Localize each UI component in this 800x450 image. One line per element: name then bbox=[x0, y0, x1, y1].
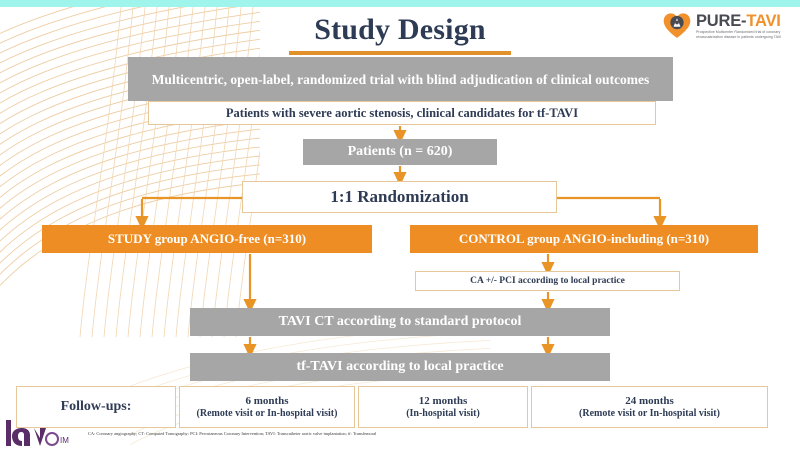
box-total-patients: Patients (n = 620) bbox=[303, 139, 497, 165]
box-randomization: 1:1 Randomization bbox=[242, 181, 557, 213]
box-tf-tavi: tf-TAVI according to local practice bbox=[190, 353, 610, 381]
box-patient-population: Patients with severe aortic stenosis, cl… bbox=[148, 101, 656, 125]
title-underline bbox=[289, 51, 511, 55]
abbreviations-footnote: CA: Coronary angiography; CT: Computed T… bbox=[88, 431, 728, 437]
brand-name: PURE-TAVI bbox=[696, 13, 792, 30]
followup-sub-6: (Remote visit or In-hospital visit) bbox=[197, 408, 338, 420]
followup-cell-24-months: 24 months (Remote visit or In-hospital v… bbox=[531, 386, 768, 428]
followups-row: Follow-ups: 6 months (Remote visit or In… bbox=[16, 386, 768, 428]
svg-text:IM: IM bbox=[60, 436, 69, 445]
followup-cell-6-months: 6 months (Remote visit or In-hospital vi… bbox=[179, 386, 355, 428]
followup-title-6: 6 months bbox=[245, 395, 288, 408]
followup-cell-12-months: 12 months (In-hospital visit) bbox=[358, 386, 528, 428]
heart-valve-logo-icon bbox=[663, 12, 691, 40]
box-ca-pci: CA +/- PCI according to local practice bbox=[415, 271, 680, 291]
followup-sub-12: (In-hospital visit) bbox=[406, 408, 480, 420]
followup-title-24: 24 months bbox=[625, 395, 674, 408]
brand-name-tavi: TAVI bbox=[746, 12, 780, 30]
brand-text-block: PURE-TAVI Prospective Multicenter Random… bbox=[696, 13, 792, 39]
followups-label: Follow-ups: bbox=[61, 399, 132, 415]
box-control-group: CONTROL group ANGIO-including (n=310) bbox=[410, 225, 758, 253]
slide-canvas: Study Design PURE-TAVI Prospective Multi… bbox=[0, 0, 800, 450]
box-tavi-ct: TAVI CT according to standard protocol bbox=[190, 308, 610, 336]
brand-logo: PURE-TAVI Prospective Multicenter Random… bbox=[663, 12, 792, 40]
box-study-group: STUDY group ANGIO-free (n=310) bbox=[42, 225, 372, 253]
box-trial-description: Multicentric, open-label, randomized tri… bbox=[128, 57, 673, 101]
brand-subtitle: Prospective Multicenter Randomized trial… bbox=[696, 30, 792, 39]
top-accent-bar bbox=[0, 0, 800, 7]
followup-sub-24: (Remote visit or In-hospital visit) bbox=[579, 408, 720, 420]
corner-partial-logo: IM bbox=[2, 414, 80, 448]
brand-name-pure: PURE bbox=[696, 12, 741, 30]
followup-title-12: 12 months bbox=[419, 395, 468, 408]
